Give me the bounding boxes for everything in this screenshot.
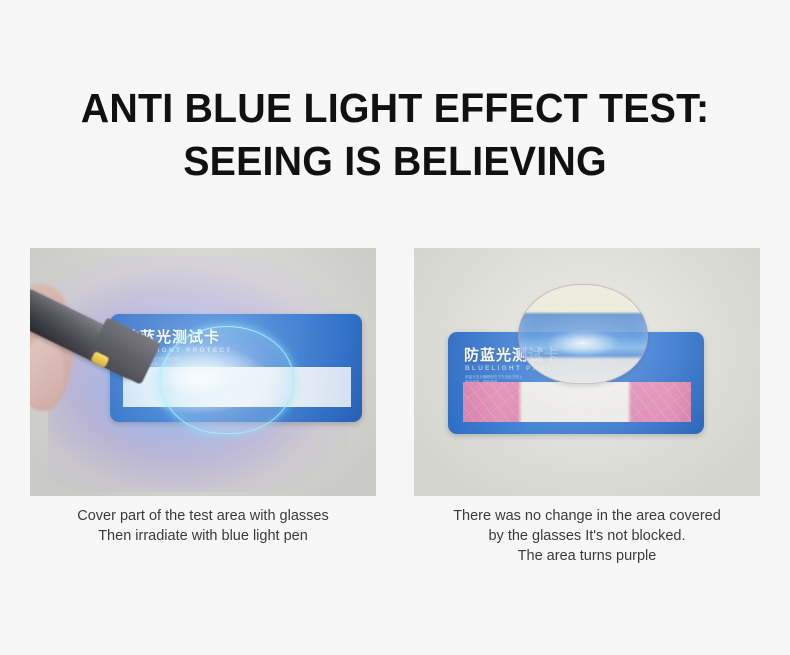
eyeglass-lens-right [518,284,648,384]
headline-line-2: SEEING IS BELIEVING [16,135,774,188]
test-strip-right [463,382,691,422]
caption-left-line-2: Then irradiate with blue light pen [30,526,376,546]
headline-line-1: ANTI BLUE LIGHT EFFECT TEST: [16,82,774,135]
caption-right-line-2: by the glasses It's not blocked. [414,526,760,546]
caption-right-line-1: There was no change in the area covered [414,506,760,526]
caption-left-line-1: Cover part of the test area with glasses [30,506,376,526]
panel-left: 防蓝光测试卡 BLUELIGHT PROTECT 用蓝光发光器照射在下方白色方块… [30,248,376,496]
eyeglass-lens-left [160,326,294,434]
caption-right: There was no change in the area covered … [414,506,760,566]
uv-pen-test-photo: 防蓝光测试卡 BLUELIGHT PROTECT 用蓝光发光器照射在下方白色方块… [30,248,376,496]
caption-left: Cover part of the test area with glasses… [30,506,376,546]
panel-right: 防蓝光测试卡 BLUELIGHT PROTECT 用蓝光发光器照射在下方白色方块… [414,248,760,496]
caption-right-line-3: The area turns purple [414,546,760,566]
page-title: ANTI BLUE LIGHT EFFECT TEST: SEEING IS B… [0,82,790,188]
test-result-photo: 防蓝光测试卡 BLUELIGHT PROTECT 用蓝光发光器照射在下方白色方块… [414,248,760,496]
comparison-panels: 防蓝光测试卡 BLUELIGHT PROTECT 用蓝光发光器照射在下方白色方块… [0,248,790,608]
